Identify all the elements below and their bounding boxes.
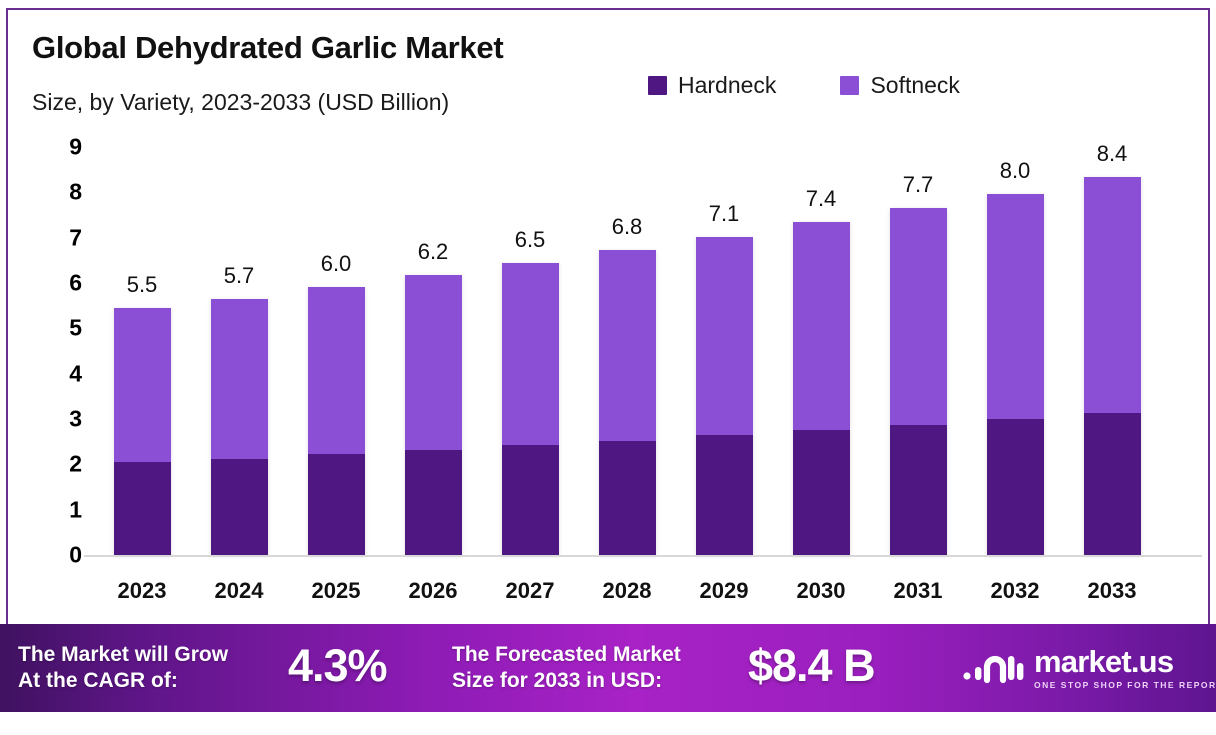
x-axis-tick: 2026 [385,578,481,604]
cagr-label-line1: The Market will Grow [18,643,228,666]
stacked-bar[interactable] [890,208,947,555]
x-axis-tick: 2024 [191,578,287,604]
y-axis-tick: 6 [38,270,82,297]
x-axis-tick: 2033 [1064,578,1160,604]
x-axis-line [84,555,1202,557]
bar-segment-hardneck[interactable] [114,462,171,555]
chart-card: Global Dehydrated Garlic Market Size, by… [6,8,1210,624]
bar-column[interactable]: 6.82028 [579,10,675,626]
forecast-size-label-line1: The Forecasted Market [452,643,681,666]
y-axis-tick: 7 [38,224,82,251]
x-axis-tick: 2023 [94,578,190,604]
bar-segment-hardneck[interactable] [793,430,850,555]
cagr-label-line2: At the CAGR of: [18,669,178,692]
x-axis-tick: 2028 [579,578,675,604]
bar-segment-softneck[interactable] [114,308,171,462]
y-axis-tick: 1 [38,496,82,523]
y-axis-tick: 4 [38,360,82,387]
bar-segment-softneck[interactable] [599,250,656,440]
x-axis-tick: 2025 [288,578,384,604]
stacked-bar[interactable] [114,308,171,555]
y-axis-tick: 5 [38,315,82,342]
bar-segment-softneck[interactable] [793,222,850,431]
bar-segment-hardneck[interactable] [405,450,462,555]
stacked-bar[interactable] [405,275,462,555]
bar-segment-hardneck[interactable] [1084,413,1141,555]
bar-segment-softneck[interactable] [308,287,365,455]
bar-segment-hardneck[interactable] [890,425,947,555]
stacked-bar[interactable] [211,299,268,555]
bar-value-label: 5.5 [94,272,190,298]
x-axis-tick: 2030 [773,578,869,604]
x-axis-tick: 2027 [482,578,578,604]
bar-column[interactable]: 7.12029 [676,10,772,626]
bar-value-label: 8.0 [967,158,1063,184]
x-axis-tick: 2029 [676,578,772,604]
bar-segment-hardneck[interactable] [502,445,559,555]
x-axis-tick: 2031 [870,578,966,604]
chart-infographic: Global Dehydrated Garlic Market Size, by… [0,0,1216,735]
y-axis-tick: 2 [38,451,82,478]
stacked-bar[interactable] [502,263,559,555]
bar-value-label: 8.4 [1064,141,1160,167]
stacked-bar[interactable] [308,287,365,555]
summary-banner: The Market will Grow At the CAGR of: 4.3… [0,624,1216,712]
bar-column[interactable]: 7.72031 [870,10,966,626]
bar-segment-softneck[interactable] [696,237,753,436]
bar-segment-softneck[interactable] [405,275,462,450]
y-axis-tick: 3 [38,406,82,433]
bar-group: 5.520235.720246.020256.220266.520276.820… [94,10,1202,626]
bar-column[interactable]: 5.52023 [94,10,190,626]
bar-value-label: 7.4 [773,186,869,212]
plot-area: 0123456789 5.520235.720246.020256.220266… [8,10,1212,626]
bar-segment-softneck[interactable] [890,208,947,425]
logo-tagline: ONE STOP SHOP FOR THE REPORTS [1034,680,1216,690]
bar-value-label: 7.1 [676,201,772,227]
bar-column[interactable]: 6.52027 [482,10,578,626]
stacked-bar[interactable] [599,250,656,555]
bar-value-label: 5.7 [191,263,287,289]
stacked-bar[interactable] [1084,177,1141,555]
bar-column[interactable]: 7.42030 [773,10,869,626]
bar-segment-hardneck[interactable] [211,459,268,555]
stacked-bar[interactable] [793,222,850,555]
bar-segment-softneck[interactable] [211,299,268,459]
bar-segment-softneck[interactable] [1084,177,1141,413]
bar-segment-hardneck[interactable] [599,441,656,555]
bar-segment-softneck[interactable] [502,263,559,446]
forecast-size-value: $8.4 B [748,640,875,692]
logo-text: market.us ONE STOP SHOP FOR THE REPORTS [1034,646,1216,690]
cagr-label: The Market will Grow At the CAGR of: [18,642,228,693]
bar-value-label: 6.8 [579,214,675,240]
stacked-bar[interactable] [987,194,1044,555]
bar-column[interactable]: 8.02032 [967,10,1063,626]
cagr-value: 4.3% [288,640,387,692]
bar-segment-softneck[interactable] [987,194,1044,419]
y-axis: 0123456789 [22,10,82,626]
bar-segment-hardneck[interactable] [987,419,1044,555]
bar-column[interactable]: 6.22026 [385,10,481,626]
bar-column[interactable]: 5.72024 [191,10,287,626]
stacked-bar[interactable] [696,237,753,555]
logo-wordmark: market.us [1034,646,1216,677]
bar-value-label: 6.2 [385,239,481,265]
y-axis-tick: 8 [38,179,82,206]
y-axis-tick: 9 [38,134,82,161]
logo-mark-icon [962,651,1024,685]
bar-column[interactable]: 6.02025 [288,10,384,626]
forecast-size-label: The Forecasted Market Size for 2033 in U… [452,642,681,693]
market-us-logo[interactable]: market.us ONE STOP SHOP FOR THE REPORTS [962,646,1216,690]
bar-segment-hardneck[interactable] [308,454,365,555]
bar-value-label: 6.0 [288,251,384,277]
bar-column[interactable]: 8.42033 [1064,10,1160,626]
x-axis-tick: 2032 [967,578,1063,604]
bar-value-label: 7.7 [870,172,966,198]
y-axis-tick: 0 [38,542,82,569]
bar-value-label: 6.5 [482,227,578,253]
bar-segment-hardneck[interactable] [696,435,753,555]
forecast-size-label-line2: Size for 2033 in USD: [452,669,662,692]
banner-bottom-edge [0,712,1216,716]
